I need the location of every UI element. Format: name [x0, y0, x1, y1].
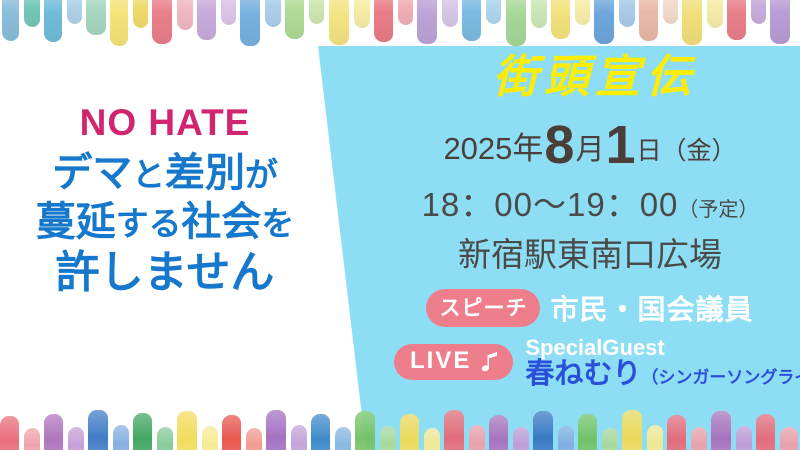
slogan-line-3: 許しません: [0, 246, 330, 300]
slogan-line-2: 蔓延する社会を: [0, 198, 330, 247]
slogan-line-1-part-c: 差別: [165, 151, 245, 195]
speech-row: スピーチ 市民・国会議員: [380, 288, 800, 328]
speech-participants: 市民・国会議員: [550, 288, 753, 328]
event-time: 18：00〜19：00（予定）: [380, 178, 800, 226]
slogan-line-1-part-b: と: [132, 156, 165, 193]
slogan-line-2-part-d: を: [261, 205, 294, 242]
date-day-number: 1: [605, 115, 635, 175]
no-hate-headline: NO HATE: [0, 104, 330, 143]
slogan-line-2-part-b: する: [116, 205, 182, 242]
guest-name-row: 春ねむり（シンガーソングライター）: [525, 359, 800, 389]
left-message-block: NO HATE デマと差別が 蔓延する社会を 許しません: [0, 104, 330, 300]
live-row: LIVE SpecialGuest 春ねむり（シンガーソングライター）: [380, 336, 800, 390]
date-month-unit: 月: [575, 134, 604, 166]
slogan-line-2-part-c: 社会: [181, 200, 261, 244]
time-note: （予定）: [678, 199, 758, 221]
slogan-line-1: デマと差別が: [0, 149, 330, 198]
event-headline: 街頭宣伝: [380, 52, 800, 102]
guest-role: （シンガーソングライター）: [641, 368, 800, 387]
special-guest-label: SpecialGuest: [525, 336, 800, 359]
slogan-line-1-part-d: が: [245, 156, 278, 193]
event-location: 新宿駅東南口広場: [380, 228, 800, 276]
date-day-unit: 日: [637, 137, 662, 165]
date-weekday: （金）: [662, 137, 737, 165]
live-badge: LIVE: [394, 344, 513, 380]
event-date: 2025年8月1日（金）: [380, 118, 800, 172]
time-range: 18：00〜19：00: [422, 186, 679, 223]
live-guest-info: SpecialGuest 春ねむり（シンガーソングライター）: [525, 336, 800, 390]
speech-badge: スピーチ: [426, 289, 540, 327]
guest-name: 春ねむり: [525, 358, 641, 390]
slogan-line-2-part-a: 蔓延: [36, 200, 116, 244]
right-info-block: 街頭宣伝 2025年8月1日（金） 18：00〜19：00（予定） 新宿駅東南口…: [380, 52, 800, 389]
date-year: 2025年: [443, 131, 543, 166]
music-note-icon: [479, 351, 499, 373]
date-month-number: 8: [544, 115, 574, 175]
slogan-line-1-part-a: デマ: [52, 151, 132, 195]
live-badge-label: LIVE: [410, 347, 471, 375]
poster-canvas: NO HATE デマと差別が 蔓延する社会を 許しません 街頭宣伝 2025年8…: [0, 0, 800, 450]
